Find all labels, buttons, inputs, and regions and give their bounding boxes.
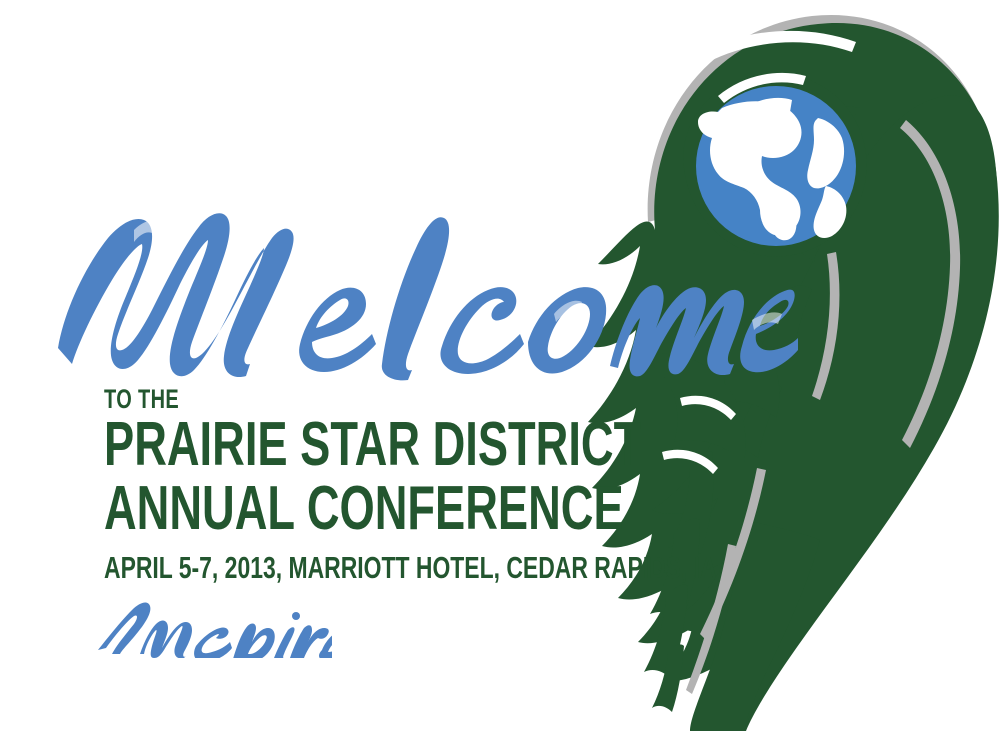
date-location-line: APRIL 5-7, 2013, MARRIOTT HOTEL, CEDAR R…: [104, 552, 717, 583]
org-line-2: ANNUAL CONFERENCE: [104, 478, 624, 540]
intro-label: TO THE: [104, 386, 179, 413]
poster-canvas: TO THE PRAIRIE STAR DISTRICT ANNUAL CONF…: [0, 0, 1000, 733]
tagline-block: THE FUTURE WE ENVISION: [88, 596, 668, 706]
org-line-1: PRAIRIE STAR DISTRICT: [104, 414, 641, 476]
welcome-script-headline: [38, 196, 798, 386]
inspire-script-word: [92, 596, 332, 658]
